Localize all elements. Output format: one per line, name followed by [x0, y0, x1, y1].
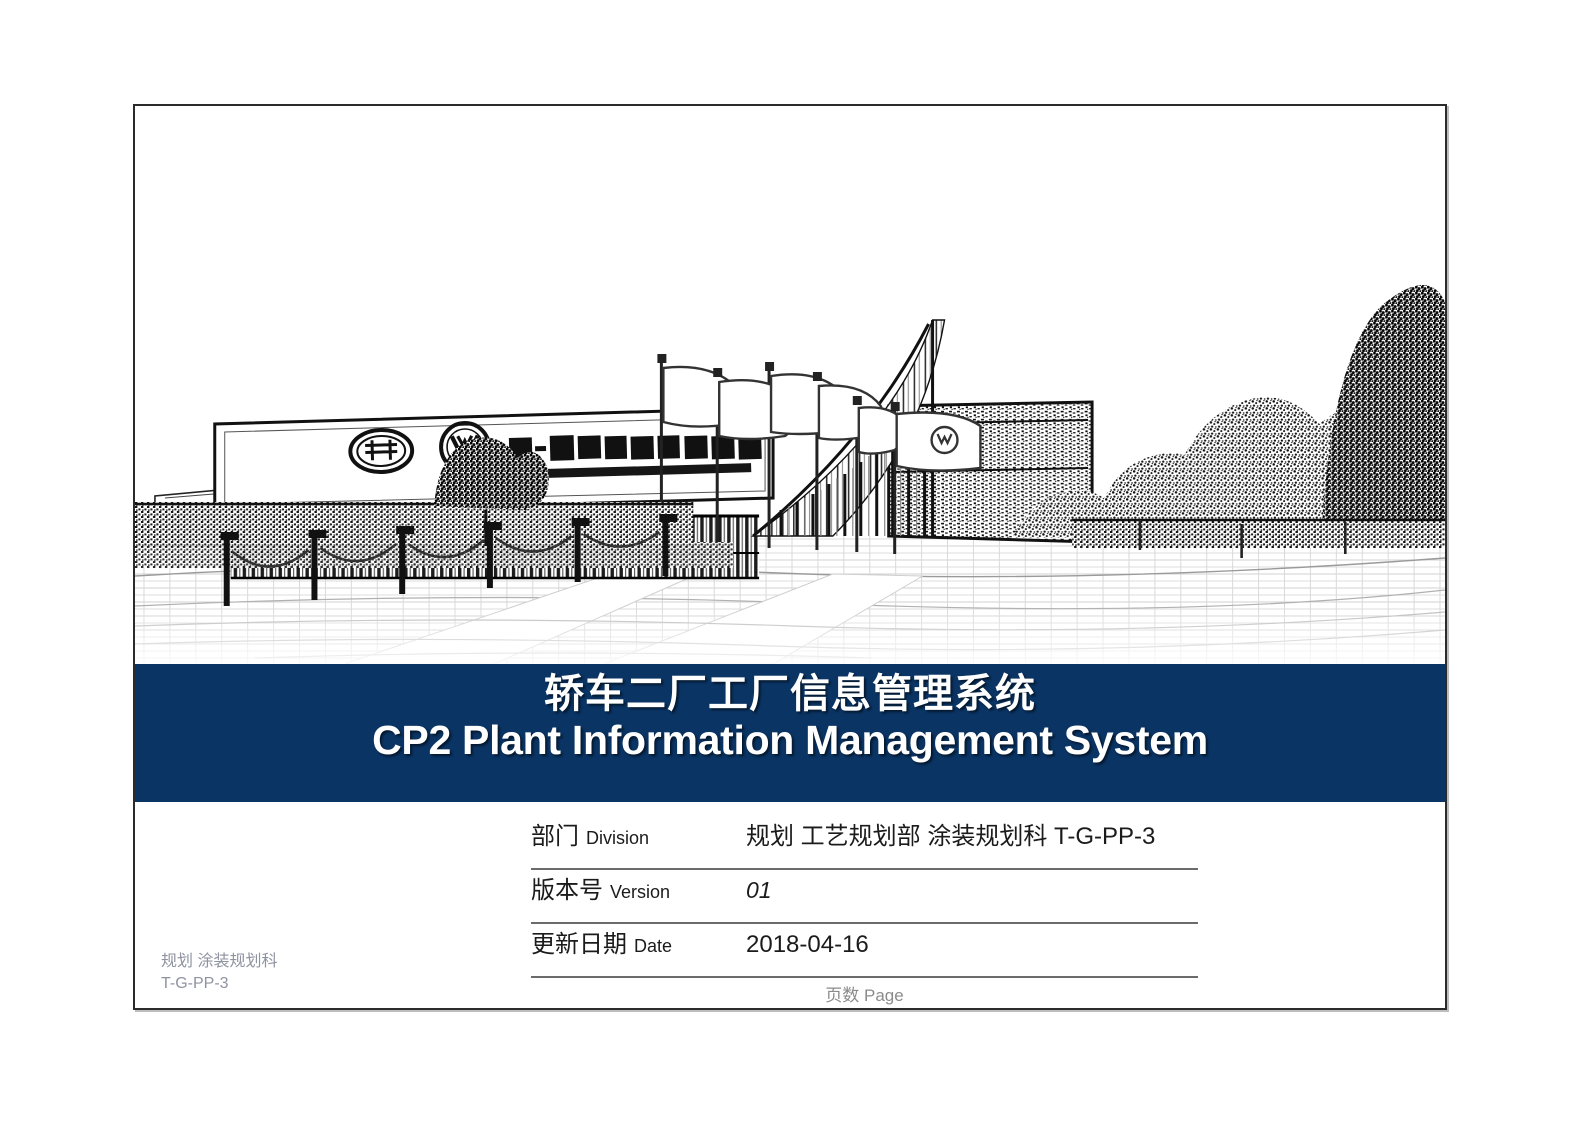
row-value-version: 01 — [746, 877, 772, 904]
table-row: 更新日期Date 2018-04-16 — [531, 924, 1198, 978]
document-info-table: 部门Division 规划 工艺规划部 涂装规划科 T-G-PP-3 版本号Ve… — [531, 816, 1198, 978]
label-cn: 版本号 — [531, 877, 603, 904]
plant-entrance-illustration — [135, 106, 1445, 664]
row-label-division: 部门Division — [531, 816, 746, 851]
row-value-date: 2018-04-16 — [746, 931, 869, 959]
page-number-label: 页数 Page — [531, 981, 1198, 1006]
label-cn: 更新日期 — [531, 931, 627, 958]
slide-canvas: 轿车二厂工厂信息管理系统 CP2 Plant Information Manag… — [133, 104, 1447, 1010]
title-chinese: 轿车二厂工厂信息管理系统 — [135, 672, 1445, 717]
title-banner: 轿车二厂工厂信息管理系统 CP2 Plant Information Manag… — [135, 664, 1445, 802]
row-label-date: 更新日期Date — [531, 924, 746, 959]
table-row: 部门Division 规划 工艺规划部 涂装规划科 T-G-PP-3 — [531, 816, 1198, 870]
label-en: Version — [610, 882, 670, 902]
label-en: Division — [586, 828, 649, 848]
footer-line-2: T-G-PP-3 — [161, 973, 277, 995]
row-label-version: 版本号Version — [531, 870, 746, 905]
row-value-division: 规划 工艺规划部 涂装规划科 T-G-PP-3 — [746, 816, 1155, 851]
title-english: CP2 Plant Information Management System — [135, 717, 1445, 764]
footer-line-1: 规划 涂装规划科 — [161, 951, 277, 973]
table-row: 版本号Version 01 — [531, 870, 1198, 924]
footer-department: 规划 涂装规划科 T-G-PP-3 — [161, 951, 277, 994]
label-en: Date — [634, 936, 672, 956]
label-cn: 部门 — [531, 823, 579, 850]
